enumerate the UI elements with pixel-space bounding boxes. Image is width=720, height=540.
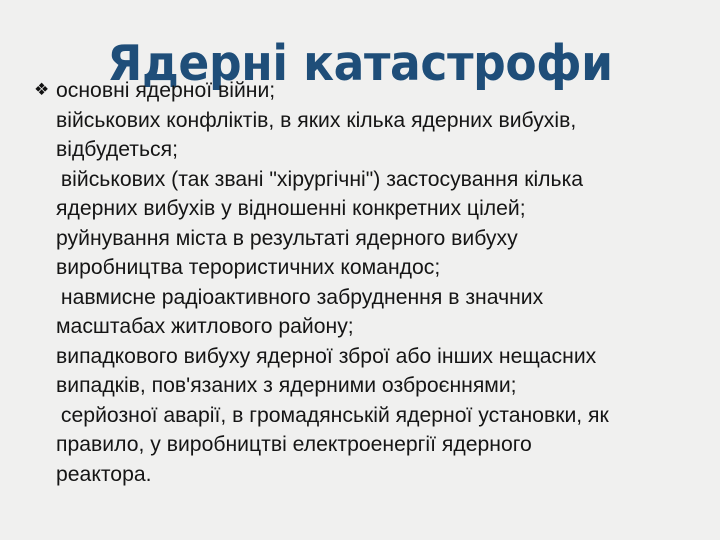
list-item-text: виробництва терористичних командос; (56, 253, 683, 283)
list-item: відбудеться; (33, 135, 693, 165)
list-item: військових (так звані "хірургічні") заст… (33, 165, 693, 195)
list-item: правило, у виробництві електроенергії яд… (33, 430, 693, 460)
list-item-text: основні ядерної війни; (56, 76, 683, 106)
list-item-text: військових конфліктів, в яких кілька яде… (56, 106, 683, 136)
list-item: реактора. (33, 460, 693, 490)
list-item: випадків, пов'язаних з ядерними озброєнн… (33, 371, 693, 401)
list-item: навмисне радіоактивного забруднення в зн… (33, 283, 693, 313)
list-item: руйнування міста в результаті ядерного в… (33, 224, 693, 254)
diamond-cluster-bullet-icon: ❖ (33, 76, 56, 106)
list-item: випадкового вибуху ядерної зброї або інш… (33, 342, 693, 372)
list-item: військових конфліктів, в яких кілька яде… (33, 106, 693, 136)
list-item-text: відбудеться; (56, 135, 683, 165)
list-item-text: випадкового вибуху ядерної зброї або інш… (56, 342, 683, 372)
list-item-text: реактора. (56, 460, 683, 490)
list-item-text: масштабах житлового району; (56, 312, 683, 342)
list-item-text: руйнування міста в результаті ядерного в… (56, 224, 683, 254)
list-item: масштабах житлового району; (33, 312, 693, 342)
bullet-list: ❖ основні ядерної війни; військових конф… (33, 76, 693, 489)
list-item-text: навмисне радіоактивного забруднення в зн… (56, 283, 683, 313)
list-item: ядерних вибухів у відношенні конкретних … (33, 194, 693, 224)
list-item: серйозної аварії, в громадянській ядерно… (33, 401, 693, 431)
list-item: ❖ основні ядерної війни; (33, 76, 693, 106)
list-item-text: військових (так звані "хірургічні") заст… (56, 165, 683, 195)
list-item-text: випадків, пов'язаних з ядерними озброєнн… (56, 371, 683, 401)
slide-canvas: Ядерні катастрофи ❖ основні ядерної війн… (0, 0, 720, 540)
list-item-text: серйозної аварії, в громадянській ядерно… (56, 401, 683, 431)
list-item: виробництва терористичних командос; (33, 253, 693, 283)
list-item-text: ядерних вибухів у відношенні конкретних … (56, 194, 683, 224)
list-item-text: правило, у виробництві електроенергії яд… (56, 430, 683, 460)
